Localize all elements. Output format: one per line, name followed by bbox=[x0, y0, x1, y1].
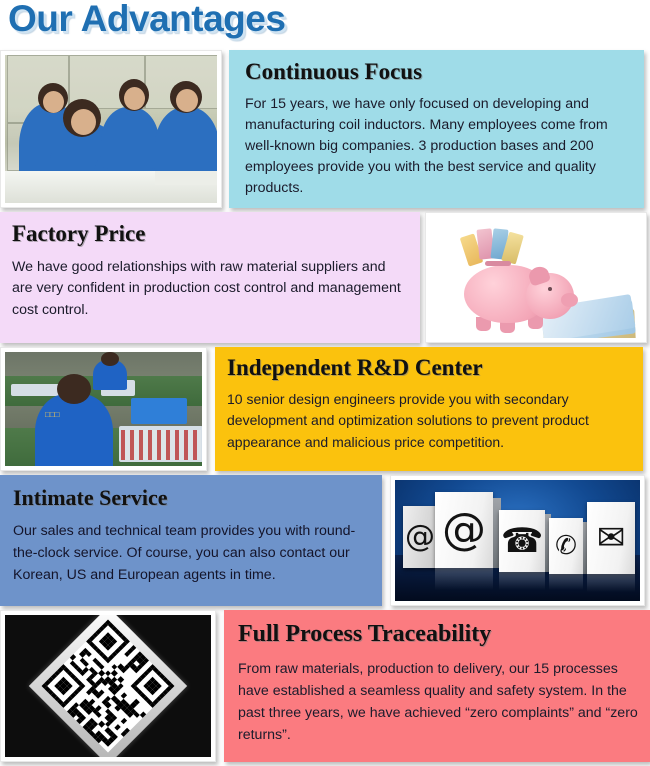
panel-continuous-focus: Continuous Focus For 15 years, we have o… bbox=[229, 50, 644, 208]
body-factory-price: We have good relationships with raw mate… bbox=[12, 257, 406, 321]
at-icon-secondary: @ bbox=[405, 522, 435, 552]
section-independent-rd-center: □□□ Independent R&D Center 10 senior des… bbox=[0, 347, 650, 471]
body-intimate-service: Our sales and technical team provides yo… bbox=[13, 520, 370, 586]
qr-code-photo bbox=[0, 610, 216, 762]
factory-workers-photo bbox=[0, 50, 222, 208]
body-continuous-focus: For 15 years, we have only focused on de… bbox=[245, 94, 630, 198]
section-full-process-traceability: Full Process Traceability From raw mater… bbox=[0, 610, 650, 762]
at-icon: @ bbox=[442, 508, 486, 552]
advantages-page: Our Advantages bbox=[0, 0, 650, 766]
body-full-process-traceability: From raw materials, production to delive… bbox=[238, 658, 638, 746]
heading-independent-rd-center: Independent R&D Center bbox=[227, 356, 633, 380]
panel-factory-price: Factory Price We have good relationships… bbox=[0, 212, 420, 343]
envelope-cube: ✉ bbox=[587, 502, 635, 574]
page-title: Our Advantages bbox=[8, 0, 285, 40]
piggy-bank-photo bbox=[425, 212, 647, 343]
body-independent-rd-center: 10 senior design engineers provide you w… bbox=[227, 389, 633, 453]
envelope-icon: ✉ bbox=[597, 521, 626, 555]
assembly-line-photo: □□□ bbox=[0, 347, 207, 471]
heading-full-process-traceability: Full Process Traceability bbox=[238, 622, 638, 647]
section-intimate-service: Intimate Service Our sales and technical… bbox=[0, 475, 650, 606]
panel-full-process-traceability: Full Process Traceability From raw mater… bbox=[224, 610, 650, 762]
mobile-cube: ✆ bbox=[549, 518, 583, 574]
heading-intimate-service: Intimate Service bbox=[13, 486, 370, 509]
qr-code-matrix bbox=[42, 620, 175, 753]
section-continuous-focus: Continuous Focus For 15 years, we have o… bbox=[0, 50, 650, 208]
section-factory-price: Factory Price We have good relationships… bbox=[0, 212, 650, 343]
heading-continuous-focus: Continuous Focus bbox=[245, 60, 630, 84]
phone-icon: ☎ bbox=[501, 524, 543, 558]
panel-intimate-service: Intimate Service Our sales and technical… bbox=[0, 475, 382, 606]
panel-independent-rd-center: Independent R&D Center 10 senior design … bbox=[215, 347, 643, 471]
contact-icons-photo: @ @ ☎ ✆ ✉ bbox=[390, 475, 645, 606]
phone-cube: ☎ bbox=[499, 510, 545, 572]
mobile-icon: ✆ bbox=[555, 533, 577, 559]
qr-code-tag bbox=[29, 615, 187, 757]
at-cube: @ bbox=[435, 492, 493, 568]
heading-factory-price: Factory Price bbox=[12, 222, 406, 246]
